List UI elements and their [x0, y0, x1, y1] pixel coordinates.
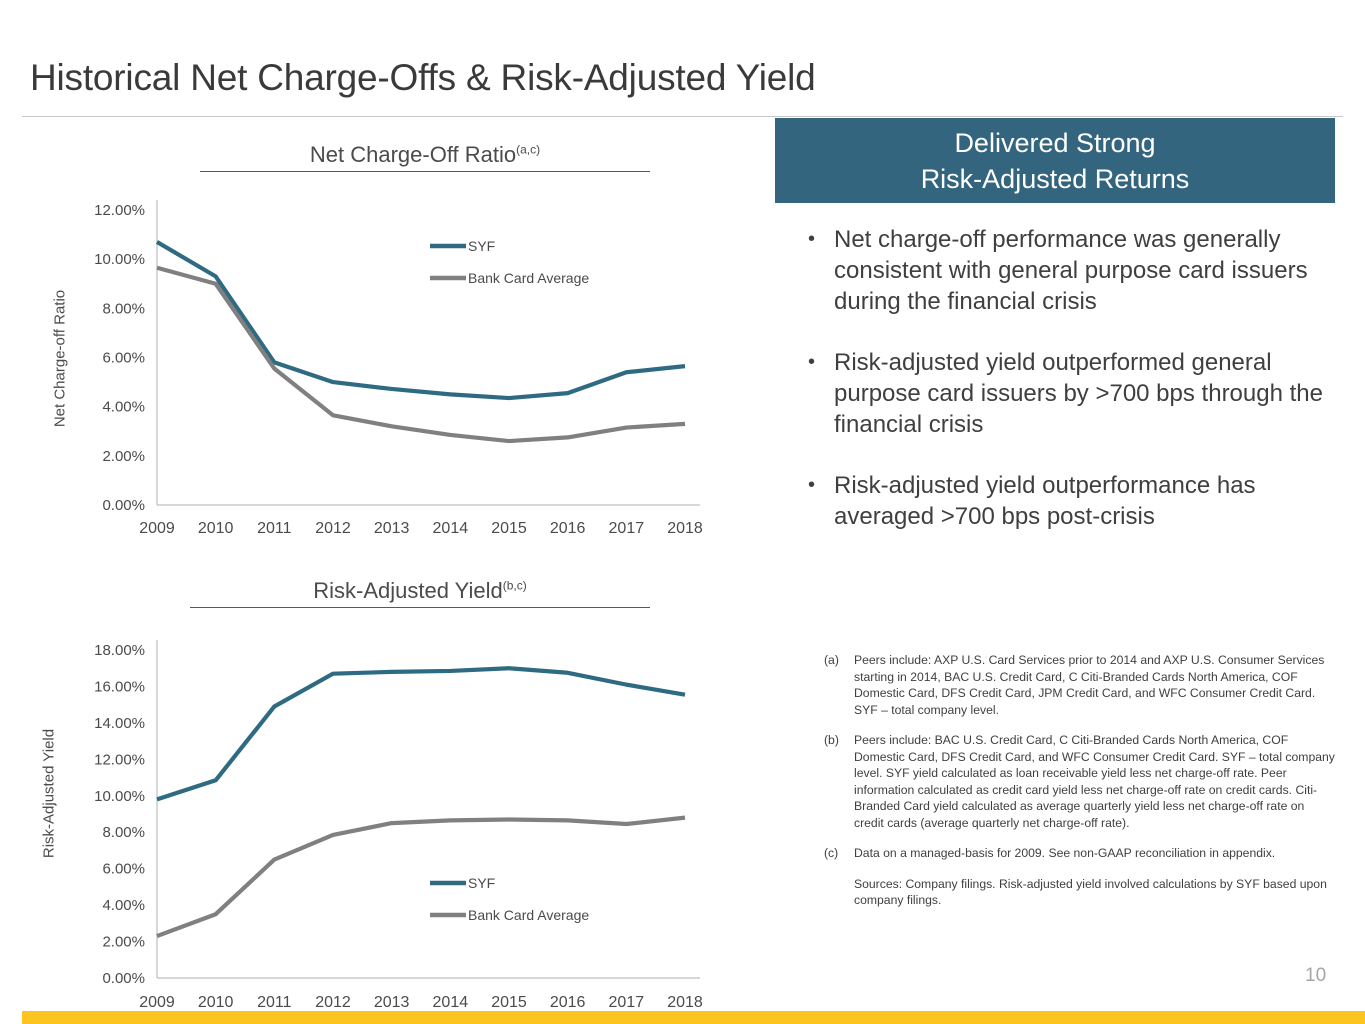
x-axis-tick-label: 2017 — [609, 520, 645, 537]
series-line-syf — [157, 668, 685, 799]
x-axis-tick-label: 2010 — [198, 520, 234, 537]
page-number: 10 — [1305, 965, 1326, 987]
y-axis-tick-label: 4.00% — [102, 399, 145, 416]
x-axis-tick-label: 2011 — [257, 520, 292, 537]
panel-header: Delivered Strong Risk-Adjusted Returns — [775, 118, 1335, 203]
bullet-icon: • — [808, 470, 834, 532]
y-axis-tick-label: 0.00% — [102, 497, 145, 514]
list-item: • Risk-adjusted yield outperformed gener… — [808, 347, 1348, 440]
y-axis-tick-label: 10.00% — [94, 788, 145, 805]
y-axis-tick-label: 12.00% — [94, 202, 145, 219]
x-axis-tick-label: 2016 — [550, 520, 586, 537]
y-axis-tick-label: 16.00% — [94, 678, 145, 695]
legend-label: SYF — [468, 238, 495, 254]
x-axis-tick-label: 2012 — [315, 994, 351, 1011]
bottom-accent-bar — [22, 1011, 1365, 1024]
footnotes: (a) Peers include: AXP U.S. Card Service… — [824, 652, 1336, 909]
footnote-c: (c) Data on a managed-basis for 2009. Se… — [824, 845, 1336, 862]
legend-label: SYF — [468, 875, 495, 891]
y-axis-tick-label: 12.00% — [94, 751, 145, 768]
y-axis-tick-label: 8.00% — [102, 300, 145, 317]
chart-plot-area: 0.00%2.00%4.00%6.00%8.00%10.00%12.00%200… — [0, 130, 760, 550]
x-axis-tick-label: 2018 — [667, 994, 703, 1011]
panel-header-line2: Risk-Adjusted Returns — [921, 161, 1190, 197]
bullet-icon: • — [808, 347, 834, 440]
bullet-icon: • — [808, 224, 834, 317]
page-title: Historical Net Charge-Offs & Risk-Adjust… — [30, 57, 816, 99]
footnote-text: Peers include: AXP U.S. Card Services pr… — [854, 652, 1336, 718]
bullet-list: • Net charge-off performance was general… — [808, 224, 1348, 562]
y-axis-tick-label: 6.00% — [102, 861, 145, 878]
list-item: • Net charge-off performance was general… — [808, 224, 1348, 317]
y-axis-tick-label: 6.00% — [102, 350, 145, 367]
footnote-b: (b) Peers include: BAC U.S. Credit Card,… — [824, 732, 1336, 831]
x-axis-tick-label: 2015 — [491, 520, 527, 537]
footnote-marker: (c) — [824, 845, 854, 862]
series-line-bank-card-average — [157, 268, 685, 441]
footnote-marker: (b) — [824, 732, 854, 831]
footnote-text: Data on a managed-basis for 2009. See no… — [854, 845, 1336, 862]
x-axis-tick-label: 2013 — [374, 994, 410, 1011]
y-axis-tick-label: 14.00% — [94, 715, 145, 732]
y-axis-tick-label: 10.00% — [94, 251, 145, 268]
list-item: • Risk-adjusted yield outperformance has… — [808, 470, 1348, 532]
x-axis-tick-label: 2015 — [491, 994, 527, 1011]
legend-label: Bank Card Average — [468, 907, 589, 923]
legend-label: Bank Card Average — [468, 270, 589, 286]
y-axis-tick-label: 8.00% — [102, 824, 145, 841]
chart-plot-area: 0.00%2.00%4.00%6.00%8.00%10.00%12.00%14.… — [0, 570, 760, 1020]
chart-risk-adjusted-yield: Risk-Adjusted Yield(b,c) Risk-Adjusted Y… — [0, 570, 760, 1020]
y-axis-tick-label: 2.00% — [102, 448, 145, 465]
x-axis-tick-label: 2012 — [315, 520, 351, 537]
x-axis-tick-label: 2018 — [667, 520, 703, 537]
y-axis-tick-label: 4.00% — [102, 897, 145, 914]
bullet-text: Risk-adjusted yield outperformed general… — [834, 347, 1348, 440]
x-axis-tick-label: 2014 — [433, 520, 469, 537]
x-axis-tick-label: 2011 — [257, 994, 292, 1011]
title-divider — [22, 116, 1343, 117]
sources-note: Sources: Company filings. Risk-adjusted … — [854, 876, 1336, 909]
y-axis-tick-label: 18.00% — [94, 642, 145, 659]
footnote-text: Peers include: BAC U.S. Credit Card, C C… — [854, 732, 1336, 831]
bullet-text: Risk-adjusted yield outperformance has a… — [834, 470, 1348, 532]
x-axis-tick-label: 2010 — [198, 994, 234, 1011]
footnote-a: (a) Peers include: AXP U.S. Card Service… — [824, 652, 1336, 718]
bullet-text: Net charge-off performance was generally… — [834, 224, 1348, 317]
panel-header-line1: Delivered Strong — [954, 125, 1155, 161]
x-axis-tick-label: 2016 — [550, 994, 586, 1011]
y-axis-tick-label: 0.00% — [102, 970, 145, 987]
series-line-bank-card-average — [157, 818, 685, 936]
x-axis-tick-label: 2009 — [139, 994, 175, 1011]
series-line-syf — [157, 242, 685, 398]
x-axis-tick-label: 2013 — [374, 520, 410, 537]
y-axis-tick-label: 2.00% — [102, 934, 145, 951]
slide-root: Historical Net Charge-Offs & Risk-Adjust… — [0, 0, 1365, 1024]
x-axis-tick-label: 2009 — [139, 520, 175, 537]
x-axis-tick-label: 2017 — [609, 994, 645, 1011]
x-axis-tick-label: 2014 — [433, 994, 469, 1011]
chart-net-charge-off-ratio: Net Charge-Off Ratio(a,c) Net Charge-off… — [0, 130, 760, 550]
footnote-marker: (a) — [824, 652, 854, 718]
